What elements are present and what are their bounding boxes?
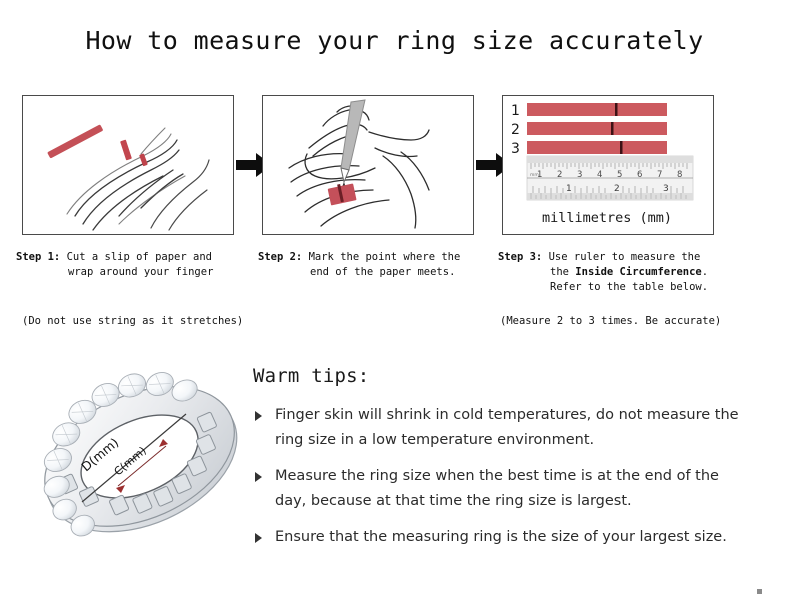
step-1-caption: Step 1: Cut a slip of paper and wrap aro… — [16, 250, 252, 280]
tip-item: Measure the ring size when the best time… — [253, 464, 745, 514]
step-2-illustration-panel — [262, 95, 474, 235]
step-1-label: Step 1: — [16, 251, 60, 263]
svg-text:2: 2 — [614, 184, 620, 194]
hand-with-paper-slip-icon — [23, 96, 233, 234]
strip-label-2: 2 — [511, 122, 520, 138]
measure-strip-1 — [527, 103, 667, 116]
svg-text:8: 8 — [677, 170, 682, 180]
step-3-inside-circumference: Inside Circumference — [575, 266, 701, 278]
step-2-label: Step 2: — [258, 251, 302, 263]
step-3-line1: Use ruler to measure the — [549, 251, 701, 263]
step-1-line1: Cut a slip of paper and — [67, 251, 212, 263]
step-3-line2-text: the — [550, 266, 575, 278]
step-3-label: Step 3: — [498, 251, 542, 263]
bullet-triangle-icon — [255, 411, 262, 421]
svg-text:mm: mm — [530, 173, 539, 178]
eternity-ring-icon: D(mm) C(mm) — [26, 352, 258, 572]
svg-text:3: 3 — [577, 170, 582, 180]
step-1-note: (Do not use string as it stretches) — [22, 315, 243, 327]
svg-text:7: 7 — [657, 170, 662, 180]
ruler-with-strips-icon: 1 2 3 — [503, 96, 713, 234]
step-3-note: (Measure 2 to 3 times. Be accurate) — [500, 315, 721, 327]
step-2-caption: Step 2: Mark the point where the end of … — [258, 250, 490, 280]
tip-text: Ensure that the measuring ring is the si… — [275, 529, 727, 545]
hand-marking-with-pen-icon — [263, 96, 473, 234]
corner-artifact-mark — [757, 589, 762, 594]
step-3-line2: the Inside Circumference. — [498, 265, 744, 280]
measure-strip-3 — [527, 141, 667, 154]
svg-text:4: 4 — [597, 170, 602, 180]
paper-slip-marked — [328, 183, 357, 205]
svg-text:6: 6 — [637, 170, 642, 180]
tip-text: Measure the ring size when the best time… — [275, 468, 719, 509]
warm-tips-heading: Warm tips: — [253, 365, 773, 387]
step-3-illustration-panel: 1 2 3 — [502, 95, 714, 235]
pen-icon — [341, 100, 365, 188]
svg-text:1: 1 — [566, 184, 572, 194]
step-3-line2-end: . — [702, 266, 708, 278]
tip-text: Finger skin will shrink in cold temperat… — [275, 407, 739, 448]
strip-label-1: 1 — [511, 103, 520, 119]
tip-item: Finger skin will shrink in cold temperat… — [253, 403, 745, 453]
measure-strip-2 — [527, 122, 667, 135]
svg-text:2: 2 — [557, 170, 562, 180]
strip-label-3: 3 — [511, 141, 520, 157]
step-1-illustration-panel — [22, 95, 234, 235]
ring-diagram: D(mm) C(mm) — [26, 352, 258, 572]
ruler-unit-caption: millimetres (mm) — [542, 210, 672, 226]
ruler-graphic: 12 34 56 78 mm 123 — [527, 156, 693, 200]
step-2-line2: end of the paper meets. — [258, 265, 490, 280]
step-1-line2: wrap around your finger — [16, 265, 252, 280]
svg-text:3: 3 — [663, 184, 669, 194]
warm-tips-section: Warm tips: Finger skin will shrink in co… — [253, 365, 773, 561]
paper-slip-strip — [47, 124, 103, 158]
svg-text:5: 5 — [617, 170, 622, 180]
step-3-line3: Refer to the table below. — [498, 280, 744, 295]
bullet-triangle-icon — [255, 472, 262, 482]
paper-slip-end — [139, 153, 148, 166]
step-2-line1: Mark the point where the — [309, 251, 461, 263]
bullet-triangle-icon — [255, 533, 262, 543]
tip-item: Ensure that the measuring ring is the si… — [253, 525, 745, 550]
step-3-caption: Step 3: Use ruler to measure the the Ins… — [498, 250, 744, 295]
paper-slip-wrapped — [120, 140, 132, 161]
